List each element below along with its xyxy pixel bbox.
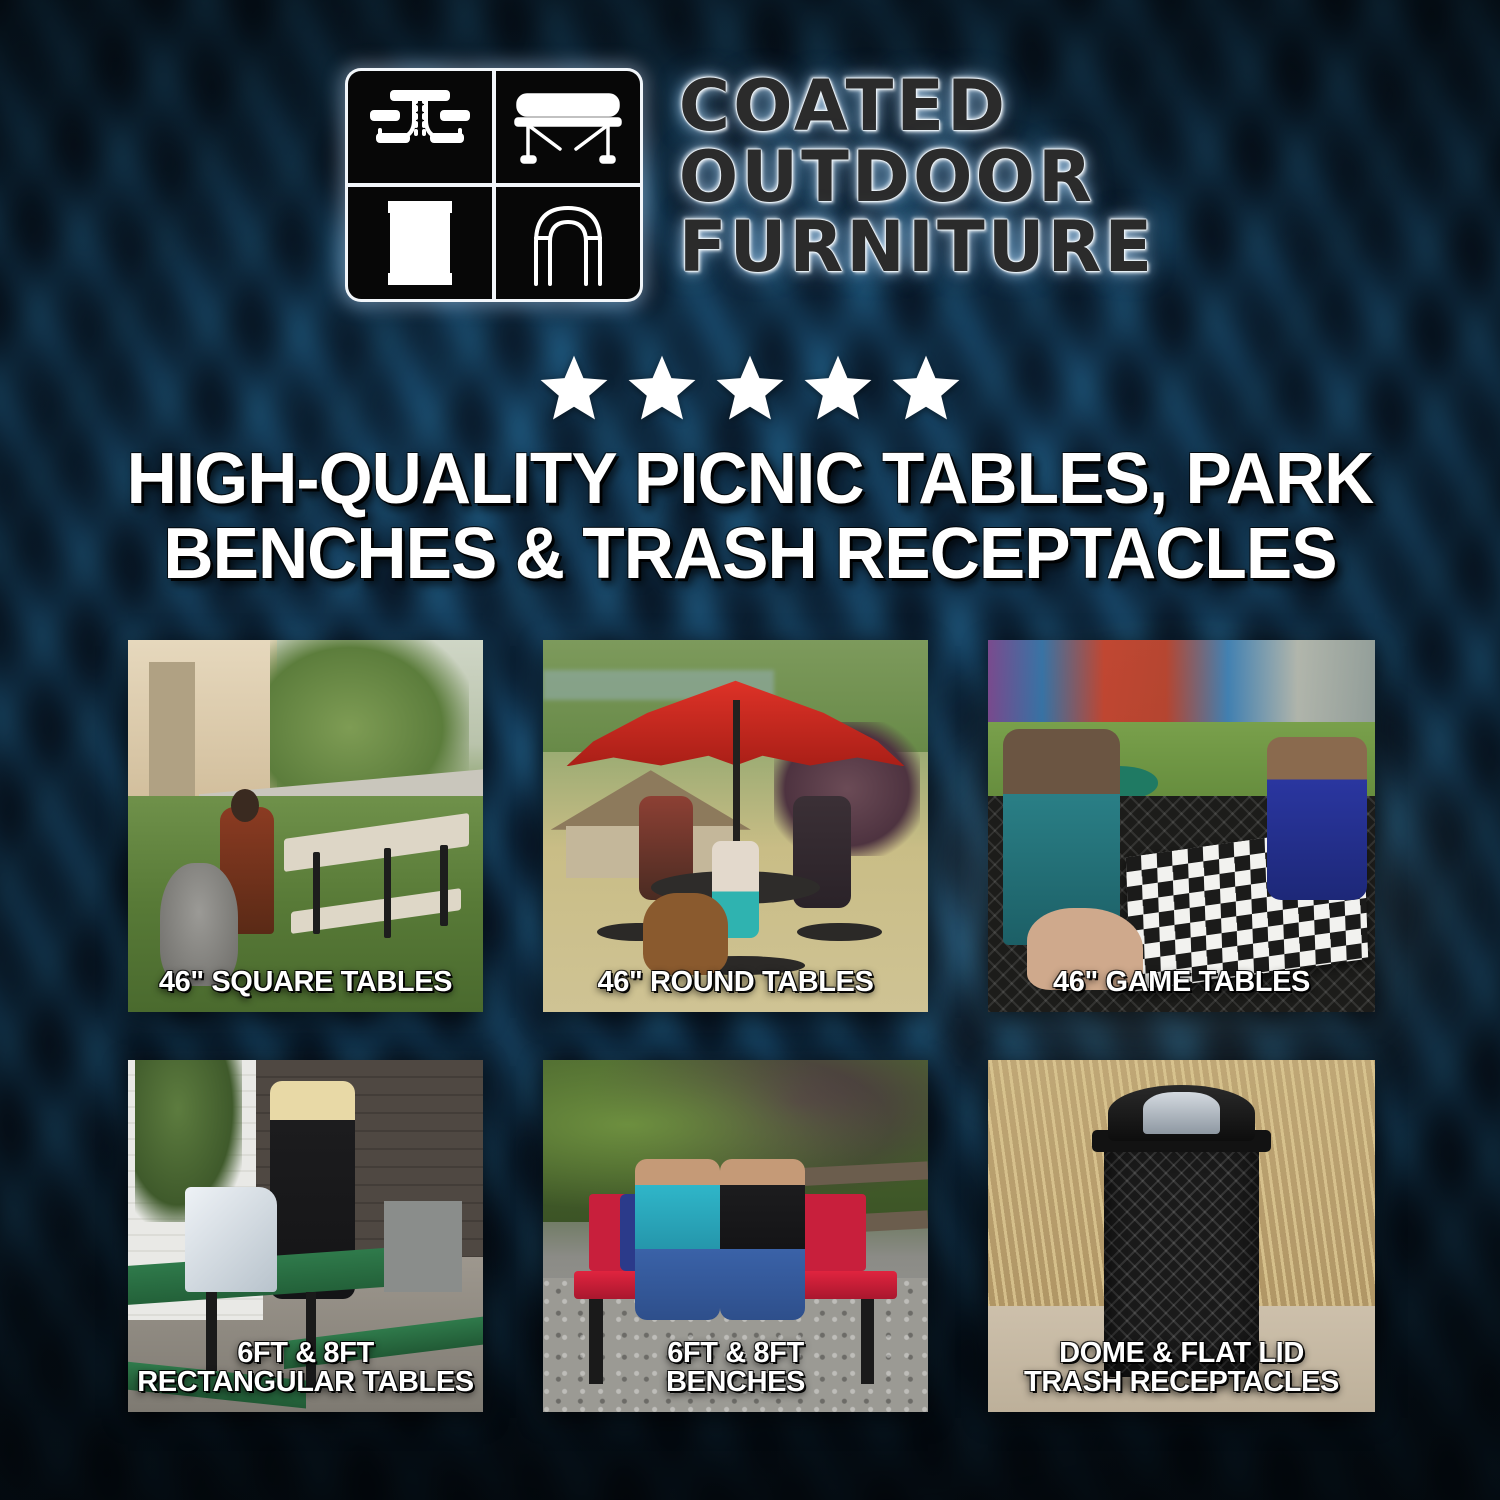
caption-line-1: 6FT & 8FT	[549, 1339, 922, 1369]
product-card-game-tables[interactable]: 46" GAME TABLES	[988, 640, 1375, 1012]
product-caption: 6FT & 8FT BENCHES	[543, 1339, 928, 1398]
product-grid: 46" SQUARE TABLES 46" ROUND TABLES	[128, 640, 1375, 1412]
brand-name-line-3: FURNITURE	[679, 213, 1156, 282]
product-card-benches[interactable]: 6FT & 8FT BENCHES	[543, 1060, 928, 1412]
caption-line-1: 46" SQUARE TABLES	[134, 968, 477, 998]
page-title: HIGH-QUALITY PICNIC TABLES, PARK BENCHES…	[84, 442, 1416, 592]
picnic-table-icon	[366, 86, 474, 168]
star-icon	[624, 352, 700, 425]
caption-line-2: BENCHES	[549, 1368, 922, 1398]
caption-line-1: 46" GAME TABLES	[994, 968, 1369, 998]
caption-line-1: 6FT & 8FT	[134, 1339, 477, 1369]
product-card-square-tables[interactable]: 46" SQUARE TABLES	[128, 640, 483, 1012]
brand-name-line-2: OUTDOOR	[679, 143, 1095, 212]
logo-tile-picnic-table	[348, 71, 492, 183]
product-caption: DOME & FLAT LID TRASH RECEPTACLES	[988, 1339, 1375, 1398]
bike-rack-arch-icon	[526, 198, 610, 288]
bench-icon	[512, 87, 624, 167]
product-card-trash-receptacles[interactable]: DOME & FLAT LID TRASH RECEPTACLES	[988, 1060, 1375, 1412]
brand-logo-mark	[345, 68, 643, 302]
headline-line-2: BENCHES & TRASH RECEPTACLES	[84, 517, 1416, 592]
promotional-poster: COATED OUTDOOR FURNITURE HIGH-QUALITY PI…	[0, 0, 1500, 1500]
star-rating	[0, 352, 1500, 425]
star-icon	[888, 352, 964, 425]
caption-line-1: 46" ROUND TABLES	[549, 968, 922, 998]
star-icon	[800, 352, 876, 425]
caption-line-2: TRASH RECEPTACLES	[994, 1368, 1369, 1398]
product-caption: 6FT & 8FT RECTANGULAR TABLES	[128, 1339, 483, 1398]
product-photo-round-tables	[543, 640, 928, 1012]
product-caption: 46" ROUND TABLES	[543, 968, 928, 998]
product-card-round-tables[interactable]: 46" ROUND TABLES	[543, 640, 928, 1012]
brand-header: COATED OUTDOOR FURNITURE	[0, 68, 1500, 302]
product-photo-square-tables	[128, 640, 483, 1012]
logo-tile-trash-receptacle	[348, 187, 492, 299]
star-icon	[712, 352, 788, 425]
product-photo-game-tables	[988, 640, 1375, 1012]
caption-line-2: RECTANGULAR TABLES	[134, 1368, 477, 1398]
brand-wordmark: COATED OUTDOOR FURNITURE	[679, 68, 1156, 282]
product-caption: 46" GAME TABLES	[988, 968, 1375, 998]
headline-line-1: HIGH-QUALITY PICNIC TABLES, PARK	[84, 442, 1416, 517]
product-card-rectangular-tables[interactable]: 6FT & 8FT RECTANGULAR TABLES	[128, 1060, 483, 1412]
logo-tile-bike-rack-arch	[496, 187, 640, 299]
star-icon	[536, 352, 612, 425]
caption-line-1: DOME & FLAT LID	[994, 1339, 1369, 1369]
product-caption: 46" SQUARE TABLES	[128, 968, 483, 998]
trash-receptacle-icon	[384, 197, 456, 289]
logo-tile-bench	[496, 71, 640, 183]
brand-name-line-1: COATED	[679, 72, 1008, 141]
